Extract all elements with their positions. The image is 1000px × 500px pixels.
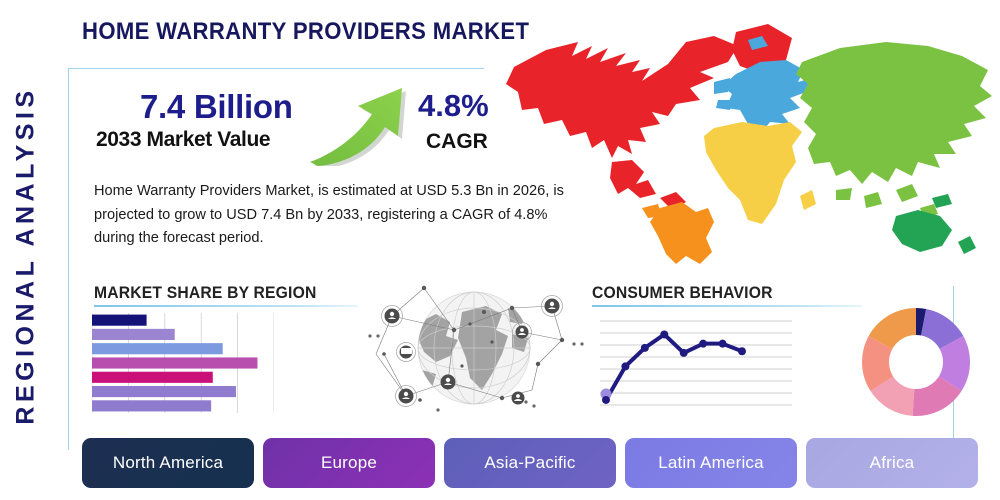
regional-donut-chart [862, 308, 970, 416]
section-rule-consumer-behavior [592, 305, 862, 307]
bar [92, 357, 257, 368]
growth-arrow-icon [306, 84, 416, 166]
market-value-figure: 7.4 Billion [140, 88, 293, 126]
market-share-bar-chart [92, 313, 274, 413]
side-label: REGIONAL ANALYSIS [6, 60, 46, 450]
line-marker [602, 396, 610, 404]
region-pill-label: Africa [870, 453, 915, 473]
region-pill-europe[interactable]: Europe [263, 438, 435, 488]
region-pill-label: Latin America [658, 453, 764, 473]
consumer-behavior-line-chart [600, 313, 796, 415]
cagr-caption: CAGR [426, 130, 488, 154]
section-heading-market-share: MARKET SHARE BY REGION [94, 284, 316, 303]
market-value-caption: 2033 Market Value [96, 128, 270, 152]
side-label-text: REGIONAL ANALYSIS [12, 86, 41, 424]
region-pill-label: North America [113, 453, 223, 473]
bar [92, 343, 223, 354]
globe-network-icon [362, 278, 587, 420]
line-marker [621, 362, 629, 370]
line-marker [738, 347, 746, 355]
section-rule-market-share [94, 305, 358, 307]
line-marker [680, 349, 688, 357]
line-marker [699, 340, 707, 348]
bar [92, 329, 175, 340]
hero-metrics: 7.4 Billion 2033 Market Value 4.8% CAGR [96, 88, 516, 170]
bar [92, 315, 147, 326]
region-pill-row: North America Europe Asia-Pacific Latin … [82, 438, 978, 488]
bar [92, 372, 213, 383]
region-pill-asia-pacific[interactable]: Asia-Pacific [444, 438, 616, 488]
region-pill-africa[interactable]: Africa [806, 438, 978, 488]
region-pill-north-america[interactable]: North America [82, 438, 254, 488]
line-marker [641, 344, 649, 352]
bar-chart-bars [92, 315, 257, 412]
region-pill-label: Europe [321, 453, 377, 473]
donut-hole [889, 335, 943, 389]
region-pill-latin-america[interactable]: Latin America [625, 438, 797, 488]
cagr-figure: 4.8% [418, 88, 489, 124]
line-marker [660, 330, 668, 338]
bar [92, 386, 236, 397]
page-title: HOME WARRANTY PROVIDERS MARKET [82, 18, 529, 46]
world-map-icon [500, 12, 995, 272]
region-pill-label: Asia-Pacific [484, 453, 575, 473]
section-heading-consumer-behavior: CONSUMER BEHAVIOR [592, 284, 773, 303]
bar [92, 400, 211, 411]
line-marker [719, 340, 727, 348]
